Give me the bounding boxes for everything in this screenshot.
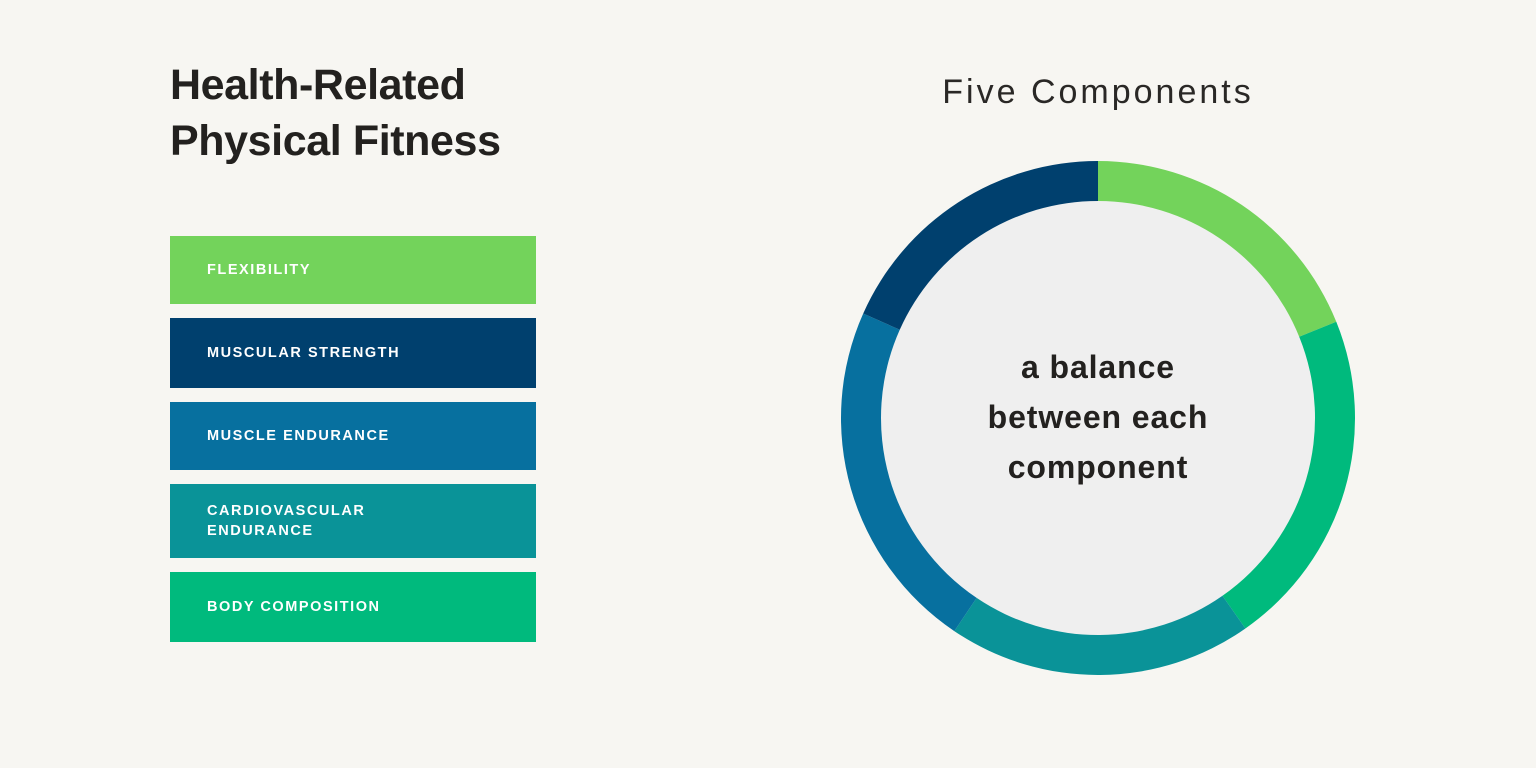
right-panel: Five Components a balance between each c… (836, 60, 1360, 710)
component-bar-label: MUSCULAR STRENGTH (207, 343, 400, 363)
component-bar-body-composition[interactable]: BODY COMPOSITION (170, 572, 536, 642)
component-bar-label: CARDIOVASCULAR ENDURANCE (207, 501, 365, 541)
component-bar-label: MUSCLE ENDURANCE (207, 426, 390, 446)
page-title: Health-Related Physical Fitness (170, 58, 600, 170)
component-bar-list: FLEXIBILITY MUSCULAR STRENGTH MUSCLE END… (170, 236, 536, 656)
component-bar-label: FLEXIBILITY (207, 260, 311, 280)
donut-chart-svg (841, 161, 1355, 675)
donut-inner-disc (881, 201, 1315, 635)
donut-chart: a balance between each component (841, 161, 1355, 675)
component-bar-muscle-endurance[interactable]: MUSCLE ENDURANCE (170, 402, 536, 470)
donut-chart-heading: Five Components (836, 73, 1360, 112)
component-bar-label: BODY COMPOSITION (207, 597, 381, 617)
left-panel: Health-Related Physical Fitness (170, 58, 600, 170)
component-bar-muscular-strength[interactable]: MUSCULAR STRENGTH (170, 318, 536, 388)
component-bar-flexibility[interactable]: FLEXIBILITY (170, 236, 536, 304)
infographic-canvas: Health-Related Physical Fitness FLEXIBIL… (0, 0, 1536, 768)
component-bar-cardiovascular-endurance[interactable]: CARDIOVASCULAR ENDURANCE (170, 484, 536, 558)
